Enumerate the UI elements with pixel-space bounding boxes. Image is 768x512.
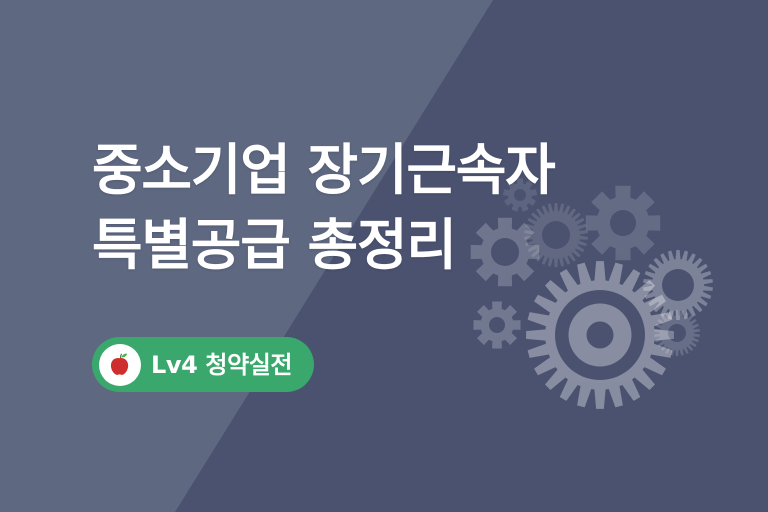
level-badge: Lv4 청약실전 [92,337,314,392]
apple-icon [99,344,141,386]
page-title: 중소기업 장기근속자 특별공급 총정리 [92,133,712,283]
level-badge-label: Lv4 청약실전 [151,353,292,377]
title-line-1: 중소기업 장기근속자 [92,133,712,208]
title-line-2: 특별공급 총정리 [92,208,712,283]
thumbnail-card: 중소기업 장기근속자 특별공급 총정리 Lv4 청약실전 [0,0,768,512]
